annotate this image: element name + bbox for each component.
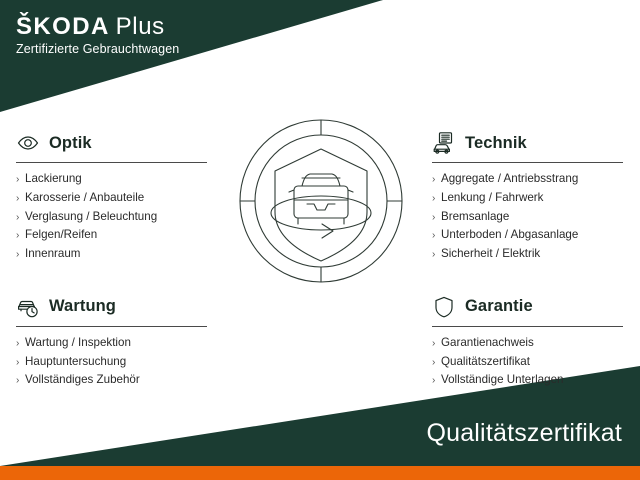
document-title: Qualitätszertifikat (426, 419, 622, 448)
chevron-right-icon: › (16, 189, 19, 208)
chevron-right-icon: › (16, 245, 19, 264)
list-item: ›Unterboden / Abgasanlage (432, 226, 632, 245)
list-item-label: Lackierung (25, 172, 82, 185)
list-item: ›Bremsanlage (432, 208, 632, 227)
left-column: Optik ›Lackierung ›Karosserie / Anbautei… (16, 130, 216, 414)
chevron-right-icon: › (16, 170, 19, 189)
list-item: ›Garantienachweis (432, 334, 632, 353)
ring-gap-ticks (240, 120, 402, 282)
list-item-label: Aggregate / Antriebsstrang (441, 172, 578, 185)
list-item-label: Karosserie / Anbauteile (25, 191, 144, 204)
chevron-right-icon: › (16, 353, 19, 372)
list-item-label: Lenkung / Fahrwerk (441, 191, 543, 204)
section-technik-items: ›Aggregate / Antriebsstrang ›Lenkung / F… (432, 170, 632, 264)
chevron-right-icon: › (432, 353, 435, 372)
chevron-right-icon: › (432, 371, 435, 390)
list-item: ›Felgen/Reifen (16, 226, 216, 245)
list-item-label: Vollständige Unterlagen (441, 373, 563, 386)
section-wartung-divider (16, 326, 207, 327)
car-clock-icon (16, 295, 40, 319)
chevron-right-icon: › (16, 226, 19, 245)
car-front-view (289, 174, 353, 224)
brand-mark: ŠKODA (16, 13, 110, 40)
chevron-right-icon: › (432, 208, 435, 227)
shield-icon (432, 295, 456, 319)
section-wartung-title: Wartung (49, 297, 116, 316)
section-optik: Optik ›Lackierung ›Karosserie / Anbautei… (16, 130, 216, 264)
list-item: ›Innenraum (16, 245, 216, 264)
orbit-arrow-head (322, 224, 333, 238)
section-garantie-divider (432, 326, 623, 327)
list-item: ›Wartung / Inspektion (16, 334, 216, 353)
list-item: ›Vollständiges Zubehör (16, 371, 216, 390)
car-document-icon (432, 131, 456, 155)
list-item: ›Vollständige Unterlagen (432, 371, 632, 390)
chevron-right-icon: › (432, 170, 435, 189)
right-column: Technik ›Aggregate / Antriebsstrang ›Len… (432, 130, 632, 414)
list-item-label: Sicherheit / Elektrik (441, 247, 540, 260)
section-wartung-header: Wartung (16, 294, 216, 320)
list-item-label: Qualitätszertifikat (441, 355, 530, 368)
section-technik-title: Technik (465, 134, 527, 153)
orbit-ellipse (271, 196, 371, 230)
list-item: ›Sicherheit / Elektrik (432, 245, 632, 264)
list-item-label: Vollständiges Zubehör (25, 373, 140, 386)
chevron-right-icon: › (432, 226, 435, 245)
list-item-label: Hauptuntersuchung (25, 355, 126, 368)
list-item: ›Lackierung (16, 170, 216, 189)
list-item: ›Lenkung / Fahrwerk (432, 189, 632, 208)
brand-name-line: ŠKODAPlus (16, 14, 179, 39)
chevron-right-icon: › (432, 189, 435, 208)
chevron-right-icon: › (432, 334, 435, 353)
orange-accent-bar (0, 466, 640, 480)
list-item-label: Unterboden / Abgasanlage (441, 228, 578, 241)
section-optik-items: ›Lackierung ›Karosserie / Anbauteile ›Ve… (16, 170, 216, 264)
section-garantie-items: ›Garantienachweis ›Qualitätszertifikat ›… (432, 334, 632, 390)
certified-vehicle-emblem (236, 116, 406, 286)
list-item-label: Innenraum (25, 247, 80, 260)
chevron-right-icon: › (16, 208, 19, 227)
list-item-label: Bremsanlage (441, 210, 509, 223)
list-item: ›Qualitätszertifikat (432, 353, 632, 372)
list-item-label: Garantienachweis (441, 336, 534, 349)
shield-outline (275, 149, 367, 261)
brand-lockup: ŠKODAPlus Zertifizierte Gebrauchtwagen (16, 14, 179, 56)
brand-tagline: Zertifizierte Gebrauchtwagen (16, 42, 179, 56)
section-technik: Technik ›Aggregate / Antriebsstrang ›Len… (432, 130, 632, 264)
section-technik-header: Technik (432, 130, 632, 156)
chevron-right-icon: › (16, 334, 19, 353)
section-wartung: Wartung ›Wartung / Inspektion ›Hauptunte… (16, 294, 216, 390)
section-optik-divider (16, 162, 207, 163)
certificate-page: ŠKODAPlus Zertifizierte Gebrauchtwagen (0, 0, 640, 480)
section-wartung-items: ›Wartung / Inspektion ›Hauptuntersuchung… (16, 334, 216, 390)
list-item: ›Aggregate / Antriebsstrang (432, 170, 632, 189)
list-item: ›Hauptuntersuchung (16, 353, 216, 372)
list-item-label: Felgen/Reifen (25, 228, 97, 241)
section-optik-header: Optik (16, 130, 216, 156)
section-garantie-title: Garantie (465, 297, 533, 316)
section-garantie: Garantie ›Garantienachweis ›Qualitätszer… (432, 294, 632, 390)
chevron-right-icon: › (16, 371, 19, 390)
list-item-label: Wartung / Inspektion (25, 336, 131, 349)
brand-sub-mark: Plus (116, 13, 165, 40)
section-optik-title: Optik (49, 134, 92, 153)
section-technik-divider (432, 162, 623, 163)
list-item: ›Verglasung / Beleuchtung (16, 208, 216, 227)
list-item: ›Karosserie / Anbauteile (16, 189, 216, 208)
list-item-label: Verglasung / Beleuchtung (25, 210, 157, 223)
section-garantie-header: Garantie (432, 294, 632, 320)
eye-icon (16, 131, 40, 155)
chevron-right-icon: › (432, 245, 435, 264)
outer-ring-segments (240, 120, 402, 282)
